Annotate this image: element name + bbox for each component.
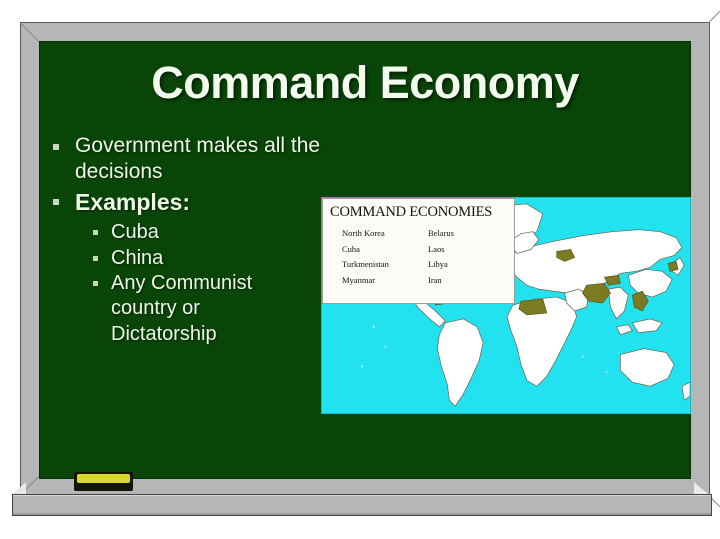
list-item-label: Examples: xyxy=(75,188,190,216)
tray-wedge-left xyxy=(12,482,26,494)
list-item: China xyxy=(47,246,332,270)
legend-item: Cuba xyxy=(342,242,428,258)
legend-title: COMMAND ECONOMIES xyxy=(330,204,507,221)
list-item-label: Dictatorship xyxy=(111,322,217,346)
square-bullet-icon xyxy=(53,199,59,205)
frame-corner-miter-top-right xyxy=(708,4,720,23)
chalk-piece xyxy=(74,472,133,491)
list-item: Any Communist xyxy=(47,271,332,295)
list-item: Cuba xyxy=(47,220,332,244)
list-item-label: China xyxy=(111,246,163,270)
world-map-image: COMMAND ECONOMIES North Korea Cuba Turkm… xyxy=(321,197,691,414)
legend-column-left: North Korea Cuba Turkmenistan Myanmar xyxy=(342,226,428,289)
legend-item: Laos xyxy=(428,242,454,258)
map-legend: COMMAND ECONOMIES North Korea Cuba Turkm… xyxy=(322,198,515,304)
legend-item: Iran xyxy=(428,273,454,289)
bullet-list: Government makes all the decisions Examp… xyxy=(47,133,332,347)
square-bullet-icon xyxy=(93,230,98,235)
list-item-continuation: country or xyxy=(47,296,332,320)
legend-column-right: Belarus Laos Libya Iran xyxy=(428,226,454,289)
chalkboard-frame: Command Economy Government makes all the… xyxy=(20,22,710,496)
list-item-label: Government makes all the decisions xyxy=(75,133,332,184)
legend-item: Myanmar xyxy=(342,273,428,289)
list-item-label: Cuba xyxy=(111,220,159,244)
legend-columns: North Korea Cuba Turkmenistan Myanmar Be… xyxy=(330,226,507,289)
legend-item: Turkmenistan xyxy=(342,257,428,273)
page-title: Command Economy xyxy=(39,57,691,109)
legend-item: Libya xyxy=(428,257,454,273)
list-item: Government makes all the decisions xyxy=(47,133,332,184)
slide-canvas: Command Economy Government makes all the… xyxy=(0,0,720,539)
legend-item: Belarus xyxy=(428,226,454,242)
frame-corner-miter-top-left xyxy=(20,23,39,42)
chalk-tray xyxy=(12,494,712,516)
list-item-label: Any Communist xyxy=(111,271,252,295)
country-north-korea xyxy=(668,261,678,271)
square-bullet-icon xyxy=(93,281,98,286)
list-item: Examples: xyxy=(47,188,332,216)
chalkboard-surface: Command Economy Government makes all the… xyxy=(39,41,691,479)
list-item-label: country or xyxy=(111,296,200,320)
tray-wedge-right xyxy=(694,482,708,494)
legend-item: North Korea xyxy=(342,226,428,242)
square-bullet-icon xyxy=(53,144,59,150)
list-item-continuation: Dictatorship xyxy=(47,322,332,346)
square-bullet-icon xyxy=(93,256,98,261)
